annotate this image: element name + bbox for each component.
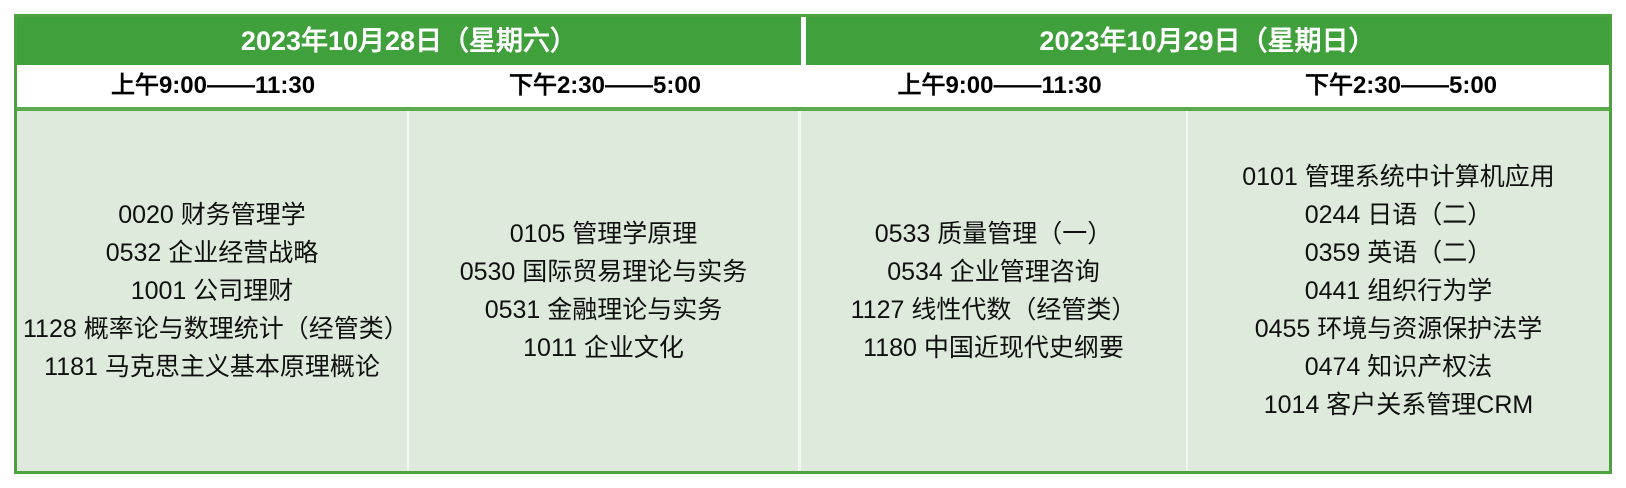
session-time-day2-afternoon: 下午2:30——5:00 [1193,65,1609,107]
subject-item: 1181 马克思主义基本原理概论 [23,348,401,386]
subject-item: 0105 管理学原理 [415,215,792,253]
session-time-day1-morning: 上午9:00——11:30 [17,65,409,107]
subject-item: 0359 英语（二） [1194,234,1603,272]
subject-item: 0441 组织行为学 [1194,272,1603,310]
subject-item: 1001 公司理财 [23,272,401,310]
subject-item: 1180 中国近现代史纲要 [807,329,1180,367]
subject-item: 0244 日语（二） [1194,196,1603,234]
day-header-saturday: 2023年10月28日（星期六） [17,17,801,65]
subject-item: 0455 环境与资源保护法学 [1194,310,1603,348]
day-header-sunday: 2023年10月29日（星期日） [806,17,1609,65]
subject-item: 0531 金融理论与实务 [415,291,792,329]
subject-item: 0101 管理系统中计算机应用 [1194,158,1603,196]
subject-cell-day1-morning: 0020 财务管理学0532 企业经营战略1001 公司理财1128 概率论与数… [17,111,409,471]
subject-item: 1011 企业文化 [415,329,792,367]
subject-item: 0020 财务管理学 [23,196,401,234]
subject-cell-day1-afternoon: 0105 管理学原理0530 国际贸易理论与实务0531 金融理论与实务1011… [409,111,801,471]
subject-item: 0530 国际贸易理论与实务 [415,253,792,291]
session-header-row: 上午9:00——11:30 下午2:30——5:00 上午9:00——11:30… [17,65,1609,111]
subject-item: 0532 企业经营战略 [23,234,401,272]
session-time-day1-afternoon: 下午2:30——5:00 [409,65,801,107]
subject-body-row: 0020 财务管理学0532 企业经营战略1001 公司理财1128 概率论与数… [17,111,1609,471]
subject-item: 0533 质量管理（一） [807,215,1180,253]
subject-item: 0534 企业管理咨询 [807,253,1180,291]
subject-item: 1127 线性代数（经管类） [807,291,1180,329]
subject-item: 0474 知识产权法 [1194,348,1603,386]
exam-schedule-table: 2023年10月28日（星期六） 2023年10月29日（星期日） 上午9:00… [14,14,1612,474]
subject-item: 1014 客户关系管理CRM [1194,386,1603,424]
subject-cell-day2-morning: 0533 质量管理（一）0534 企业管理咨询1127 线性代数（经管类）118… [801,111,1188,471]
session-time-day2-morning: 上午9:00——11:30 [806,65,1193,107]
subject-cell-day2-afternoon: 0101 管理系统中计算机应用0244 日语（二）0359 英语（二）0441 … [1188,111,1609,471]
day-header-row: 2023年10月28日（星期六） 2023年10月29日（星期日） [17,17,1609,65]
subject-item: 1128 概率论与数理统计（经管类） [23,310,401,348]
